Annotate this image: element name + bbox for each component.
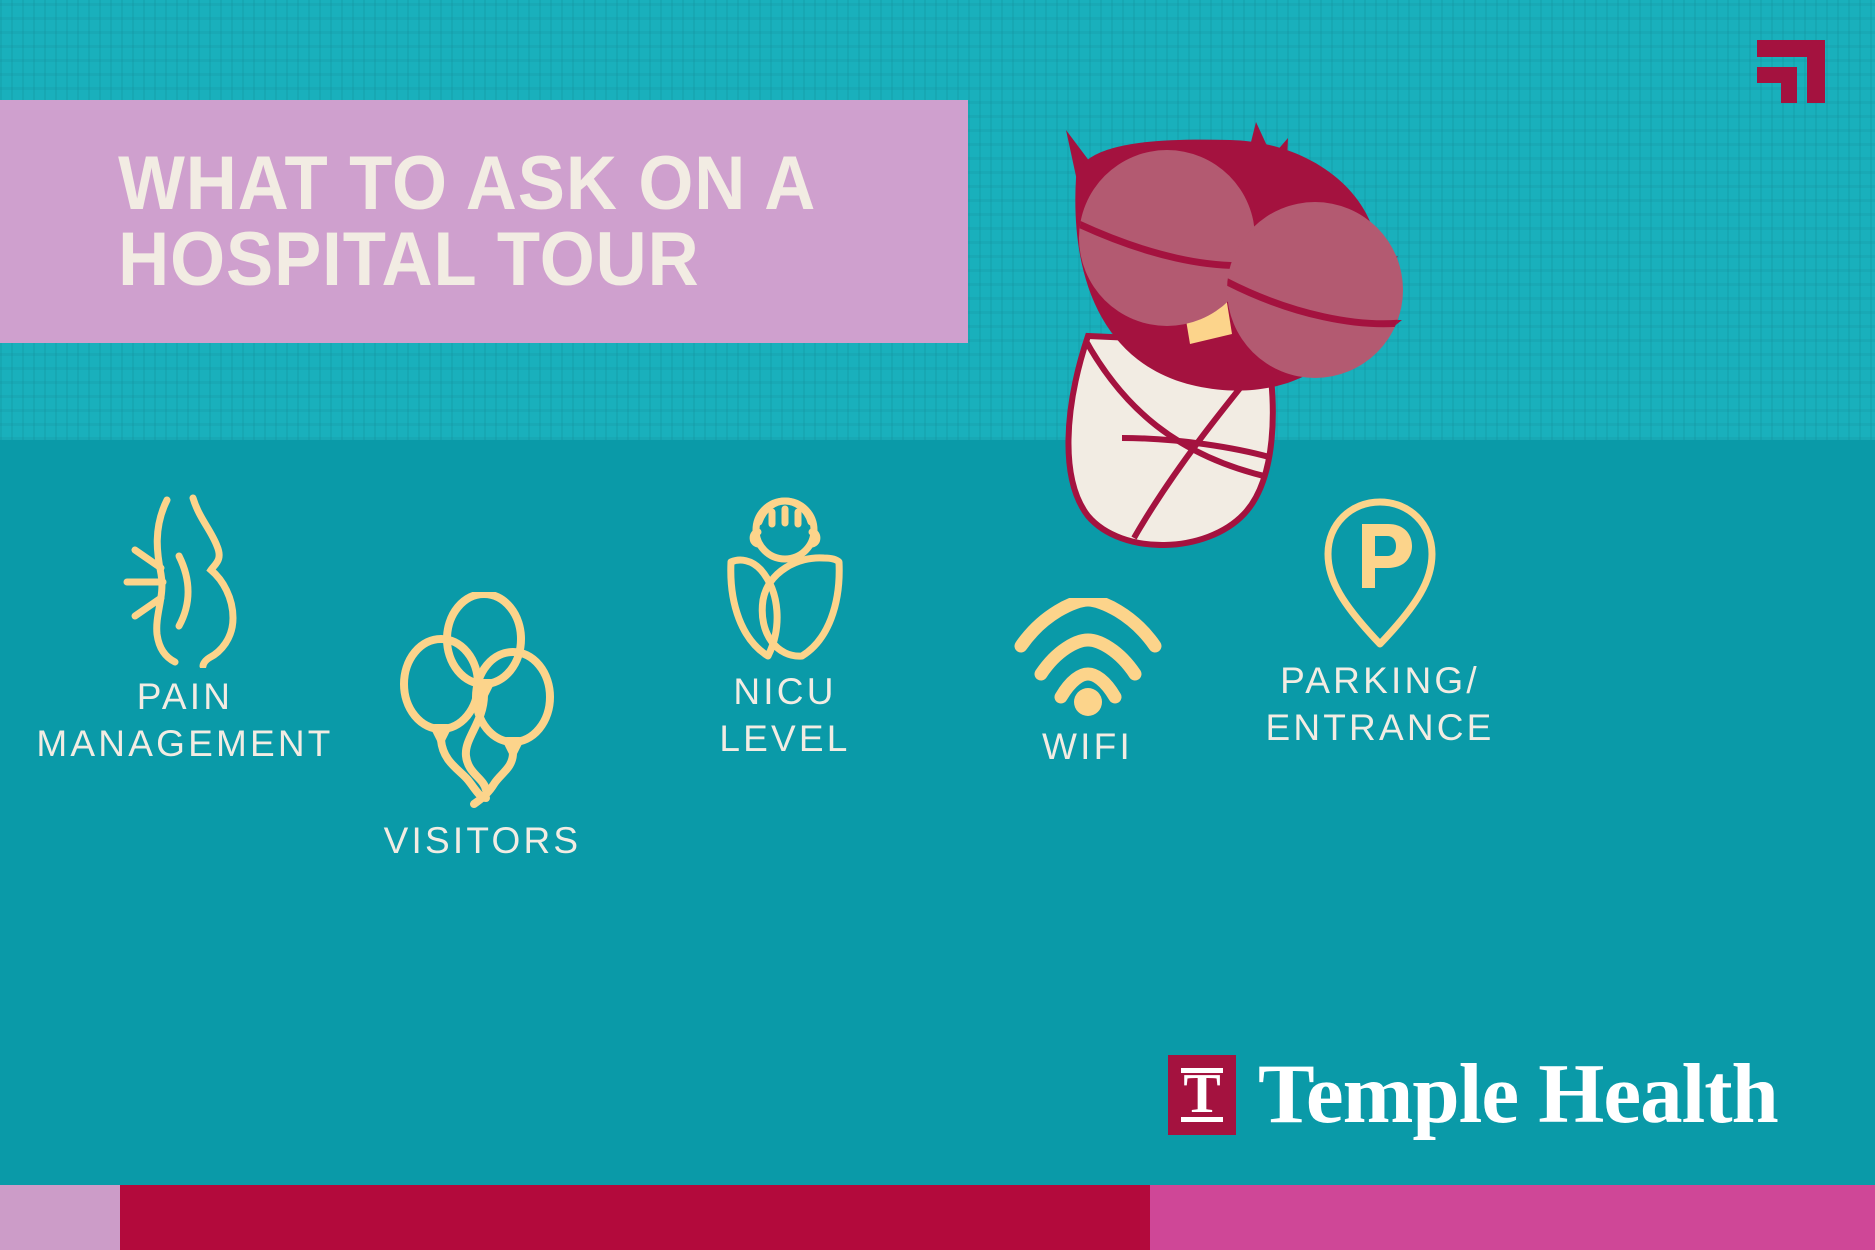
temple-corner-bracket-icon: [1757, 40, 1825, 103]
page-title-line-1: WHAT TO ASK ON A: [0, 146, 900, 221]
footer-bar-crimson: [120, 1185, 1150, 1250]
footer-color-bars: [0, 1185, 1875, 1250]
temple-t-rule-bottom: [1181, 1117, 1223, 1122]
infographic-canvas: WHAT TO ASK ON A HOSPITAL TOUR: [0, 0, 1875, 1250]
balloons-icon: [365, 592, 600, 817]
icon-label-visitors: VISITORS: [384, 820, 582, 861]
icon-item-nicu-level[interactable]: NICU LEVEL: [680, 488, 890, 763]
pregnant-belly-pain-icon: [20, 488, 350, 673]
temple-t-letter: T: [1168, 1055, 1236, 1135]
icon-label-nicu-level: NICU LEVEL: [719, 671, 850, 759]
temple-health-wordmark: Temple Health: [1258, 1052, 1778, 1137]
title-plate: WHAT TO ASK ON A HOSPITAL TOUR: [0, 100, 968, 343]
icon-item-wifi[interactable]: WIFI: [1000, 598, 1175, 770]
temple-health-logo[interactable]: T Temple Health: [1168, 1052, 1778, 1137]
footer-bar-pink: [1150, 1185, 1875, 1250]
icon-label-wifi: WIFI: [1042, 726, 1133, 767]
page-title-line-2: HOSPITAL TOUR: [0, 222, 900, 297]
icon-label-pain-management: PAIN MANAGEMENT: [36, 676, 333, 764]
icon-label-parking-entrance: PARKING/ ENTRANCE: [1265, 660, 1494, 748]
icon-item-parking-entrance[interactable]: PARKING/ ENTRANCE: [1265, 492, 1495, 752]
icon-item-pain-management[interactable]: PAIN MANAGEMENT: [20, 488, 350, 768]
swaddled-baby-icon: [680, 488, 890, 668]
wifi-icon: [1000, 598, 1175, 723]
swaddled-owl-illustration: [1030, 108, 1430, 548]
temple-t-mark-icon: T: [1168, 1055, 1236, 1135]
map-pin-parking-icon: [1265, 492, 1495, 657]
footer-bar-mauve: [0, 1185, 120, 1250]
icon-item-visitors[interactable]: VISITORS: [365, 592, 600, 864]
